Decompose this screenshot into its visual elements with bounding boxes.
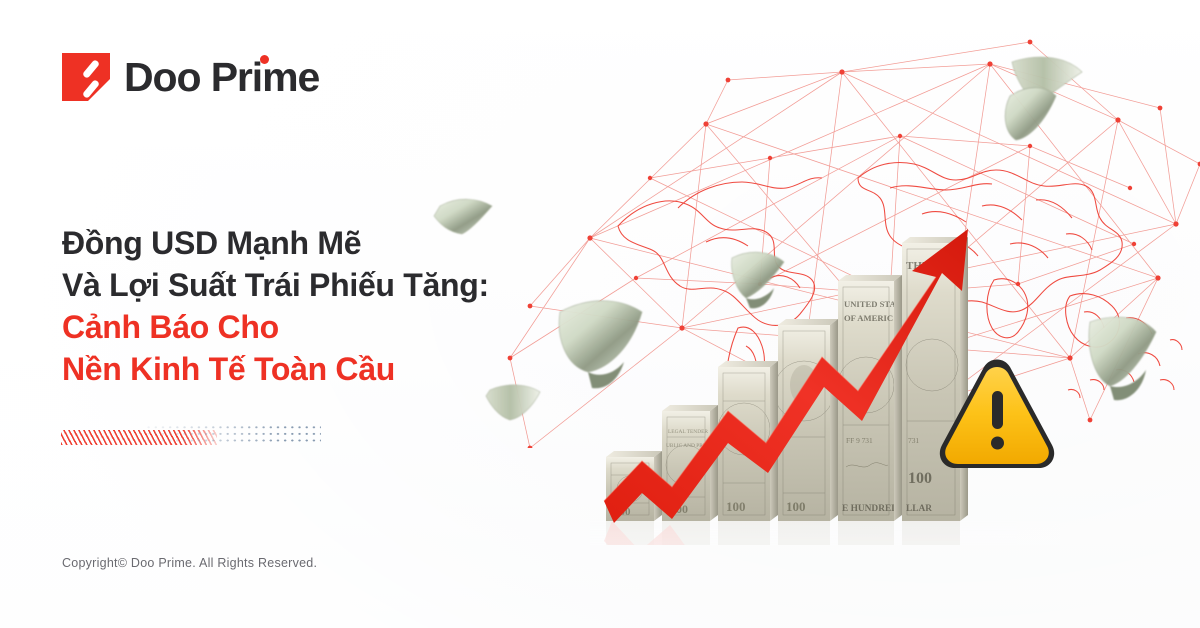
poster-canvas: 100 LEGAL TENDER UBLIC AND PRIVAT 100 bbox=[0, 0, 1200, 628]
headline-line-1: Đồng USD Mạnh Mẽ bbox=[62, 222, 582, 264]
headline-line-2: Và Lợi Suất Trái Phiếu Tăng: bbox=[62, 264, 582, 306]
brand-name: Doo Prime bbox=[124, 57, 319, 98]
brand-name-text: Doo Prime bbox=[124, 54, 319, 100]
svg-text:100: 100 bbox=[726, 499, 746, 514]
svg-text:FF 9 731: FF 9 731 bbox=[846, 436, 873, 445]
brand-logo[interactable]: Doo Prime bbox=[62, 53, 319, 101]
decorative-band bbox=[61, 424, 321, 446]
svg-text:OF AMERIC: OF AMERIC bbox=[844, 313, 893, 323]
svg-text:UNITED STAT: UNITED STAT bbox=[844, 299, 901, 309]
headline-line-3: Cảnh Báo Cho bbox=[62, 306, 582, 348]
logo-accent-dot-icon bbox=[260, 55, 269, 64]
doo-prime-logo-mark-icon bbox=[62, 53, 110, 101]
svg-text:LEGAL TENDER: LEGAL TENDER bbox=[668, 429, 708, 435]
svg-text:LLAR: LLAR bbox=[906, 504, 932, 514]
svg-text:100: 100 bbox=[786, 499, 806, 514]
svg-text:731: 731 bbox=[908, 436, 919, 445]
headline-line-4: Nền Kinh Tế Toàn Cầu bbox=[62, 348, 582, 390]
svg-text:100: 100 bbox=[908, 470, 932, 487]
dot-grid-icon bbox=[145, 424, 321, 444]
copyright-text: Copyright© Doo Prime. All Rights Reserve… bbox=[62, 556, 317, 570]
headline-block: Đồng USD Mạnh Mẽ Và Lợi Suất Trái Phiếu … bbox=[62, 222, 582, 390]
dollar-bar-chart-graphic: 100 LEGAL TENDER UBLIC AND PRIVAT 100 bbox=[590, 215, 1060, 545]
